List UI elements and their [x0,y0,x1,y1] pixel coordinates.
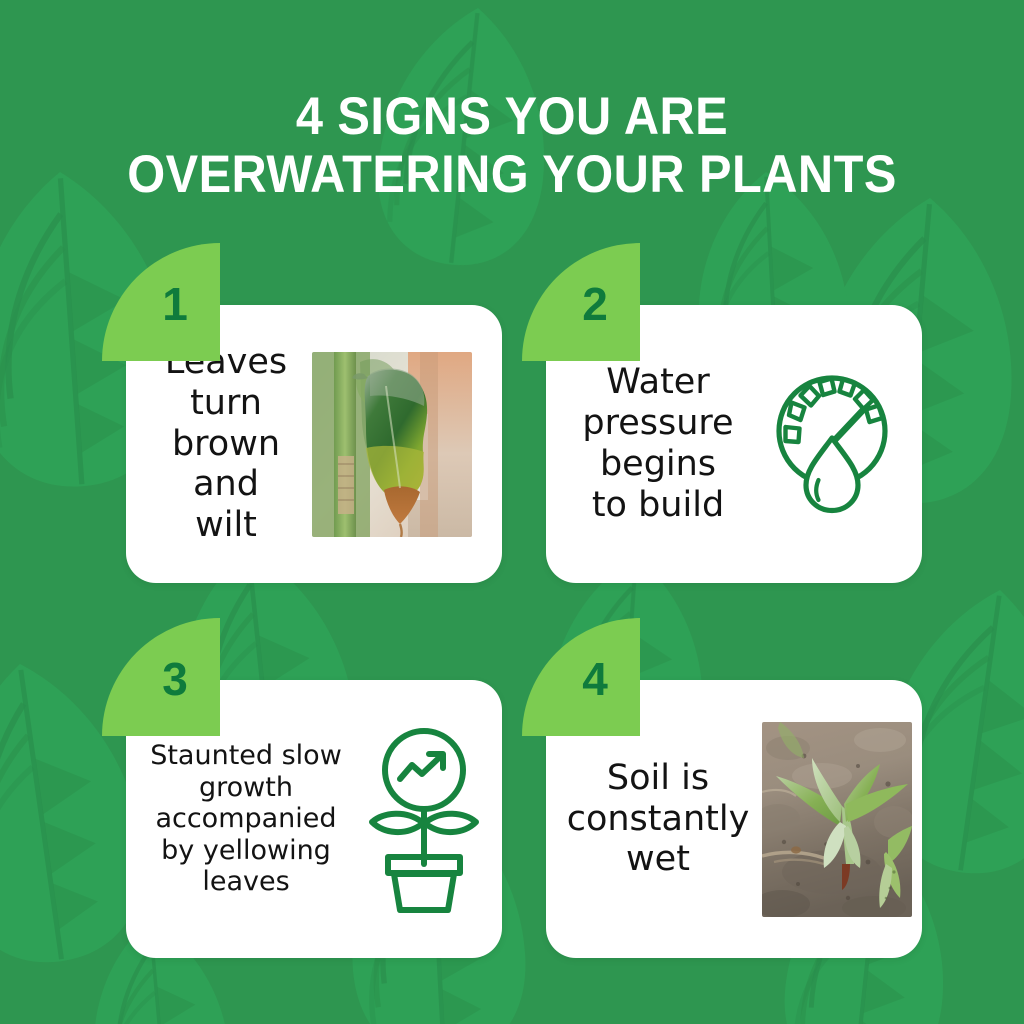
wilting-brown-leaf-photo [312,352,472,537]
sign-card-1: Leaves turn brown and wilt [102,243,502,583]
badge-number: 4 [582,656,608,702]
number-badge: 3 [102,618,220,736]
badge-number: 2 [582,281,608,327]
infographic-poster: 4 SIGNS YOU ARE OVERWATERING YOUR PLANTS… [0,0,1024,1024]
card-text: Soil is constantly wet [546,758,758,881]
potted-plant-growth-chart-icon [358,724,490,914]
title-line-1: 4 SIGNS YOU ARE [41,88,983,146]
number-badge: 4 [522,618,640,736]
pressure-gauge-water-drop-icon [766,369,898,519]
number-badge: 2 [522,243,640,361]
card-text: Water pressure begins to build [546,362,754,526]
sign-card-3: Staunted slow growth accompanied by yell… [102,618,502,958]
card-text: Leaves turn brown and wilt [126,342,308,547]
title-line-2: OVERWATERING YOUR PLANTS [41,146,983,204]
sign-card-4: Soil is constantly wet [522,618,922,958]
badge-number: 3 [162,656,188,702]
card-text: Staunted slow growth accompanied by yell… [126,740,352,898]
sign-card-2: Water pressure begins to build [522,243,922,583]
badge-number: 1 [162,281,188,327]
number-badge: 1 [102,243,220,361]
poster-title: 4 SIGNS YOU ARE OVERWATERING YOUR PLANTS [0,88,1024,204]
seedlings-in-wet-soil-photo [762,722,912,917]
